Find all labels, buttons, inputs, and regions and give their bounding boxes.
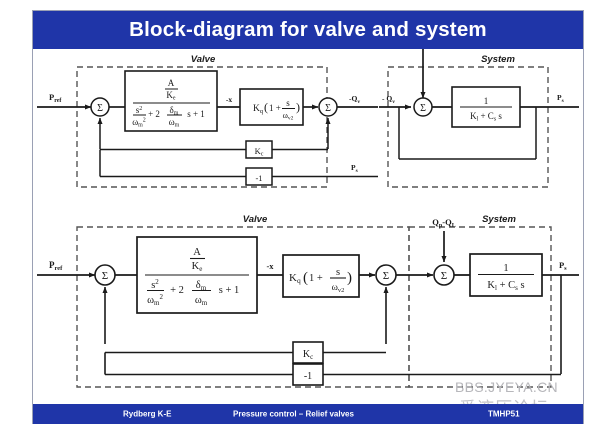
svg-text:(: ( (303, 270, 308, 286)
svg-text:+ 2: + 2 (170, 285, 184, 296)
top-system-sum-symbol: Σ (420, 103, 426, 114)
svg-text:1 +: 1 + (269, 103, 281, 113)
top-feedback-ps-label: Ps (351, 163, 358, 174)
svg-text:s + 1: s + 1 (187, 109, 205, 119)
block-diagram-svg: Valve Pref Σ A Ke s2 ωm2 (33, 49, 583, 404)
bottom-valve-group-label: Valve (243, 214, 268, 225)
top-block-neg1-label: -1 (255, 173, 262, 183)
svg-text:1: 1 (503, 263, 508, 274)
top-signal-x-label: -x (226, 95, 232, 104)
bottom-block-neg1-label: -1 (304, 371, 312, 382)
top-sum-symbol-2: Σ (325, 103, 331, 114)
top-system-group: System - Qv Qp-QL Σ 1 Kl + Cs s (379, 49, 579, 187)
svg-text:Kl + Cs s: Kl + Cs s (470, 111, 502, 123)
slide: Block-diagram for valve and system Valve… (0, 0, 600, 426)
top-sum-symbol-1: Σ (97, 103, 103, 114)
bottom-output-label: Ps (559, 260, 567, 272)
bottom-system-group-label: System (482, 214, 516, 225)
page-title: Block-diagram for valve and system (129, 18, 487, 42)
footer-course: TMHP51 (488, 410, 520, 419)
top-system-group-label: System (481, 54, 515, 65)
slide-title-bar: Block-diagram for valve and system (33, 11, 583, 49)
bottom-signal-x-label: -x (266, 261, 274, 271)
svg-text:1 +: 1 + (309, 273, 323, 284)
svg-text:s: s (336, 267, 340, 278)
bottom-system-sum-symbol: Σ (441, 270, 447, 282)
bottom-system-boundary (409, 227, 551, 387)
svg-text:): ) (296, 100, 300, 114)
top-valve-group-label: Valve (191, 54, 216, 65)
bottom-sum-symbol-1: Σ (102, 270, 108, 282)
diagram-canvas: Valve Pref Σ A Ke s2 ωm2 (33, 49, 583, 404)
top-valve-group: Valve Pref Σ A Ke s2 ωm2 (37, 54, 378, 187)
svg-text:A: A (168, 78, 175, 88)
svg-text:1: 1 (484, 96, 489, 106)
top-signal-qv-out-label: -Qv (349, 94, 360, 105)
bottom-input-label: Pref (49, 260, 63, 272)
svg-text:Kl + Cs s: Kl + Cs s (487, 280, 524, 292)
svg-text:+ 2: + 2 (148, 109, 160, 119)
top-input-label: Pref (49, 92, 62, 104)
svg-text:): ) (347, 270, 352, 286)
bottom-diagram: Valve System Pref Σ A Ke (37, 214, 579, 387)
svg-text:s + 1: s + 1 (219, 285, 240, 296)
top-system-output-label: Ps (557, 93, 564, 104)
svg-text:A: A (193, 247, 201, 258)
slide-footer-bar: Rydberg K-E Pressure control – Relief va… (33, 404, 583, 424)
bottom-sum-symbol-2: Σ (383, 270, 389, 282)
footer-author: Rydberg K-E (123, 410, 171, 419)
footer-subject: Pressure control – Relief valves (233, 410, 354, 419)
svg-text:s: s (286, 98, 290, 108)
svg-text:(: ( (264, 100, 268, 114)
